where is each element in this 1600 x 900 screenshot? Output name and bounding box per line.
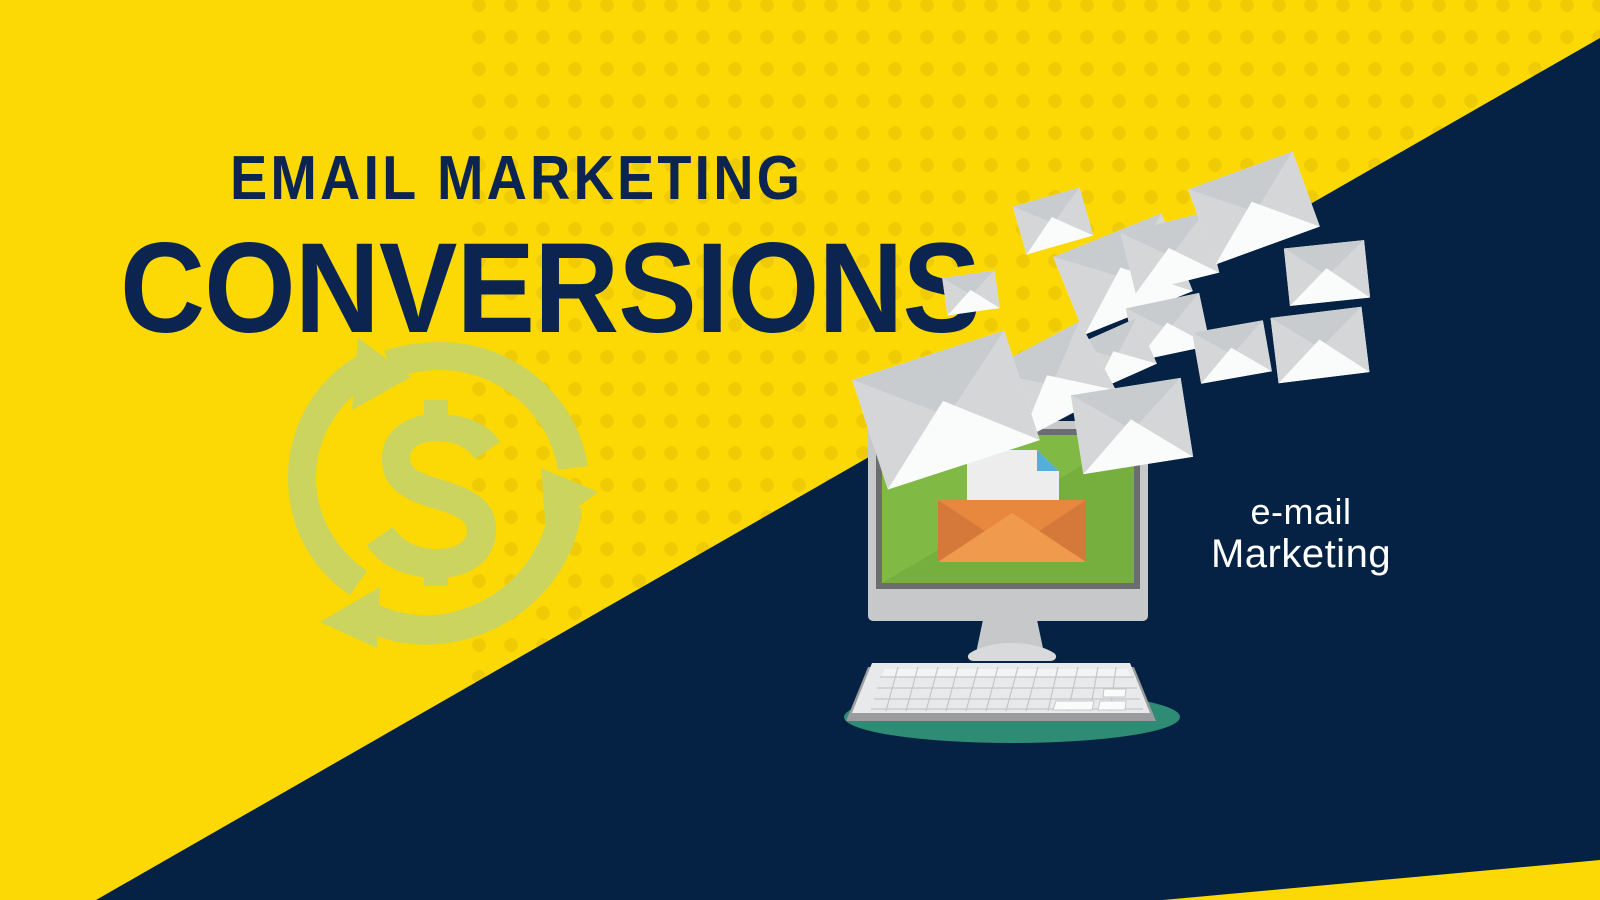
headline-kicker: EMAIL MARKETING xyxy=(230,148,972,210)
recycle-dollar-icon xyxy=(272,330,602,660)
desktop-computer-illustration xyxy=(820,415,1200,745)
wordmark-line-1: e-mail xyxy=(1196,492,1406,532)
headline-title: CONVERSIONS xyxy=(120,228,980,350)
page-title: EMAIL MARKETING CONVERSIONS xyxy=(120,148,1055,350)
poster-canvas: EMAIL MARKETING CONVERSIONS xyxy=(0,0,1600,900)
brand-wordmark: e-mail Marketing xyxy=(1196,492,1406,576)
wordmark-line-2: Marketing xyxy=(1196,532,1406,576)
keyboard-icon xyxy=(846,663,1156,721)
